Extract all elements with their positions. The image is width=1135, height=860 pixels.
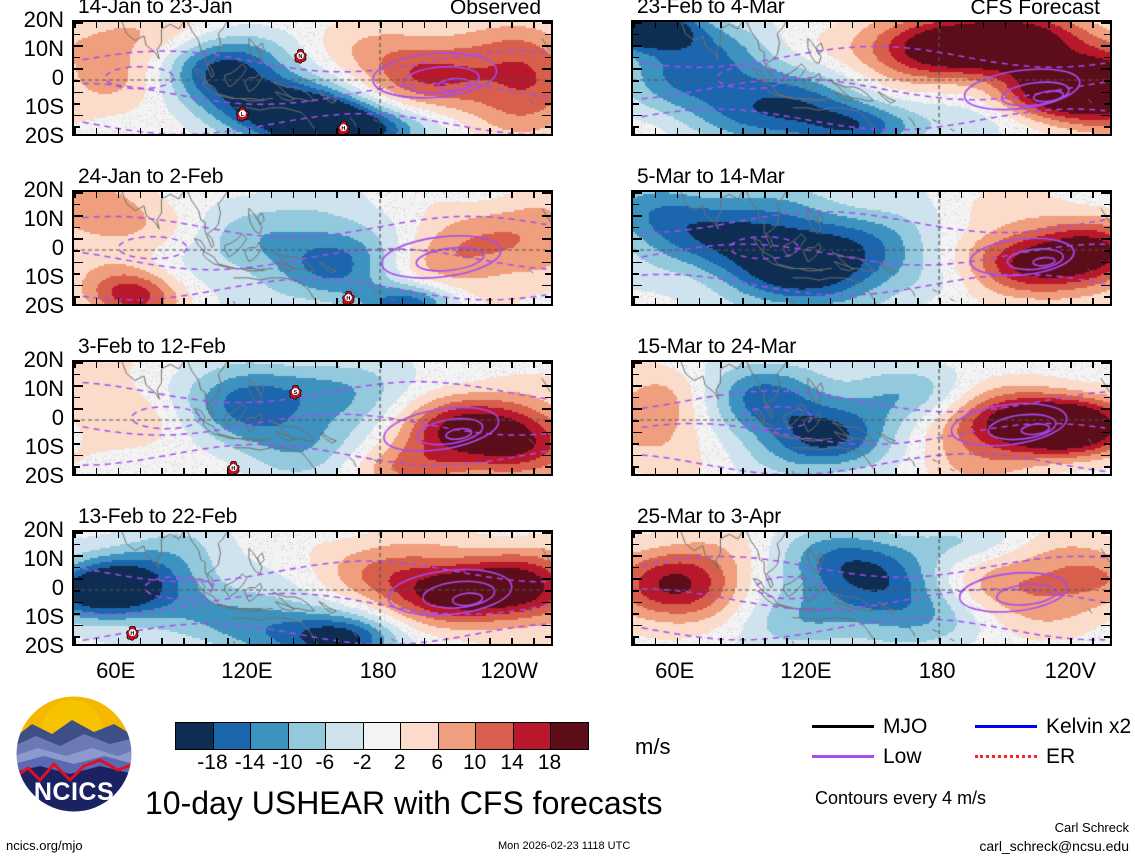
axis-tick	[1101, 22, 1110, 24]
figure-title: 10-day USHEAR with CFS forecasts	[145, 785, 663, 822]
axis-tick	[511, 532, 513, 538]
axis-tick	[895, 532, 897, 538]
axis-tick	[358, 362, 360, 368]
map-panel: NLH	[72, 20, 553, 136]
panel-title: 3-Feb to 12-Feb	[78, 335, 226, 359]
axis-tick	[742, 128, 744, 134]
axis-tick	[293, 468, 295, 474]
axis-tick	[161, 468, 163, 474]
axis-tick	[1101, 45, 1110, 47]
axis-tick	[424, 128, 426, 134]
colorbar-tick-label: 18	[538, 751, 561, 775]
axis-tick	[118, 362, 120, 368]
legend-line-swatch	[975, 725, 1037, 728]
x-axis-tick-label: 60E	[96, 658, 135, 684]
axis-tick	[1005, 638, 1007, 644]
x-axis-tick-label: 120E	[221, 658, 272, 684]
axis-tick	[742, 362, 744, 368]
axis-tick	[205, 468, 207, 474]
axis-tick	[315, 532, 317, 538]
axis-tick	[786, 298, 788, 304]
axis-tick	[720, 532, 722, 538]
axis-tick	[939, 128, 941, 134]
axis-tick	[830, 468, 832, 474]
axis-tick	[808, 22, 810, 28]
axis-tick	[633, 92, 642, 94]
axis-tick	[271, 532, 273, 538]
colorbar-swatch	[550, 723, 588, 749]
axis-tick	[542, 45, 551, 47]
axis-tick	[542, 192, 551, 194]
axis-tick	[118, 532, 120, 538]
axis-tick	[983, 362, 985, 368]
axis-tick	[545, 80, 551, 82]
axis-tick	[1048, 532, 1050, 538]
axis-tick	[1092, 638, 1094, 644]
axis-tick	[545, 34, 551, 36]
axis-tick	[140, 22, 142, 28]
axis-tick	[336, 298, 338, 304]
colorbar-tick-label: -14	[235, 751, 265, 775]
axis-tick	[961, 192, 963, 198]
axis-tick	[917, 532, 919, 538]
y-axis-tick-label: 0	[0, 405, 64, 431]
colorbar-tick-label: 14	[500, 751, 523, 775]
axis-tick	[533, 638, 535, 644]
y-axis-tick-label: 20N	[0, 517, 64, 543]
legend-label: ER	[1046, 746, 1075, 767]
axis-tick	[249, 532, 251, 538]
axis-tick	[633, 68, 642, 70]
panel-title: 14-Jan to 23-Jan	[78, 0, 232, 19]
map-panel: H	[72, 190, 553, 306]
axis-tick	[402, 192, 404, 198]
axis-tick	[874, 638, 876, 644]
map-panel: H	[72, 530, 553, 646]
axis-tick	[874, 468, 876, 474]
axis-tick	[542, 625, 551, 627]
axis-tick	[74, 385, 83, 387]
svg-text:H: H	[347, 296, 351, 302]
axis-tick	[1101, 555, 1110, 557]
axis-tick	[633, 385, 642, 387]
axis-tick	[1070, 298, 1072, 304]
axis-tick	[446, 128, 448, 134]
axis-tick	[249, 468, 251, 474]
axis-tick	[336, 362, 338, 368]
axis-tick	[74, 126, 80, 128]
axis-tick	[895, 128, 897, 134]
axis-tick	[852, 128, 854, 134]
y-axis-tick-label: 0	[0, 575, 64, 601]
axis-tick	[74, 68, 83, 70]
panel-title: 25-Mar to 3-Apr	[637, 505, 781, 529]
map-panel	[631, 190, 1112, 306]
axis-tick	[633, 103, 639, 105]
axis-tick	[1101, 92, 1110, 94]
axis-tick	[633, 238, 642, 240]
axis-tick	[402, 362, 404, 368]
y-axis-tick-label: 20N	[0, 347, 64, 373]
axis-tick	[1104, 374, 1110, 376]
axis-tick	[677, 192, 679, 198]
axis-tick	[633, 602, 642, 604]
axis-tick	[74, 432, 83, 434]
axis-tick	[1104, 80, 1110, 82]
axis-tick	[74, 590, 80, 592]
axis-tick	[655, 298, 657, 304]
column-header-forecast: CFS Forecast	[970, 0, 1100, 20]
axis-tick	[677, 468, 679, 474]
axis-tick	[1101, 578, 1110, 580]
axis-tick	[1101, 238, 1110, 240]
axis-tick	[633, 22, 642, 24]
axis-tick	[140, 532, 142, 538]
axis-tick	[895, 22, 897, 28]
colorbar-tick-label: -2	[353, 751, 372, 775]
axis-tick	[249, 362, 251, 368]
axis-tick	[96, 468, 98, 474]
axis-tick	[917, 128, 919, 134]
axis-tick	[874, 128, 876, 134]
axis-tick	[742, 298, 744, 304]
axis-tick	[424, 638, 426, 644]
axis-tick	[140, 468, 142, 474]
y-axis-tick-label: 10N	[0, 546, 64, 572]
axis-tick	[249, 22, 251, 28]
axis-tick	[358, 638, 360, 644]
axis-tick	[489, 638, 491, 644]
axis-tick	[1027, 22, 1029, 28]
y-axis-tick-label: 20S	[0, 463, 64, 489]
axis-tick	[446, 298, 448, 304]
axis-tick	[677, 128, 679, 134]
tropical-cyclone-marker: L	[236, 107, 249, 122]
axis-tick	[720, 468, 722, 474]
axis-tick	[96, 22, 98, 28]
axis-tick	[786, 22, 788, 28]
legend-line-swatch	[812, 755, 874, 758]
colorbar-swatch	[325, 723, 363, 749]
axis-tick	[1027, 468, 1029, 474]
axis-tick	[74, 22, 83, 24]
axis-tick	[939, 298, 941, 304]
axis-tick	[1104, 466, 1110, 468]
axis-tick	[402, 22, 404, 28]
axis-tick	[74, 374, 80, 376]
axis-tick	[74, 92, 83, 94]
axis-tick	[939, 192, 941, 198]
axis-tick	[542, 362, 551, 364]
axis-tick	[533, 128, 535, 134]
x-axis-tick-label: 180	[360, 658, 397, 684]
axis-tick	[742, 532, 744, 538]
axis-tick	[655, 468, 657, 474]
axis-tick	[633, 590, 639, 592]
axis-tick	[1101, 215, 1110, 217]
axis-tick	[271, 638, 273, 644]
axis-tick	[764, 128, 766, 134]
axis-tick	[1104, 590, 1110, 592]
axis-tick	[293, 192, 295, 198]
axis-tick	[742, 192, 744, 198]
x-axis-tick-label: 60E	[655, 658, 694, 684]
ncics-logo: NCICS	[14, 694, 134, 814]
axis-tick	[633, 625, 642, 627]
axis-tick	[874, 362, 876, 368]
credit-email[interactable]: carl_schreck@ncsu.edu	[899, 838, 1129, 854]
axis-tick	[786, 128, 788, 134]
axis-tick	[742, 468, 744, 474]
colorbar	[175, 722, 589, 750]
axis-tick	[533, 192, 535, 198]
axis-tick	[830, 532, 832, 538]
axis-tick	[852, 22, 854, 28]
axis-tick	[1070, 638, 1072, 644]
axis-tick	[786, 468, 788, 474]
axis-tick	[402, 532, 404, 538]
axis-tick	[545, 567, 551, 569]
axis-tick	[720, 362, 722, 368]
axis-tick	[633, 544, 639, 546]
axis-tick	[227, 532, 229, 538]
axis-tick	[1101, 192, 1110, 194]
axis-tick	[1070, 192, 1072, 198]
axis-tick	[315, 192, 317, 198]
axis-tick	[1101, 262, 1110, 264]
y-axis-tick-label: 20N	[0, 7, 64, 33]
axis-tick	[468, 22, 470, 28]
y-axis-tick-label: 20S	[0, 633, 64, 659]
axis-tick	[74, 555, 83, 557]
axis-tick	[1104, 544, 1110, 546]
axis-tick	[533, 22, 535, 28]
axis-tick	[74, 298, 76, 304]
axis-tick	[917, 192, 919, 198]
axis-tick	[545, 273, 551, 275]
axis-tick	[1048, 22, 1050, 28]
axis-tick	[183, 128, 185, 134]
axis-tick	[895, 298, 897, 304]
y-axis-tick-label: 10S	[0, 434, 64, 460]
axis-tick	[917, 298, 919, 304]
axis-tick	[183, 638, 185, 644]
axis-tick	[633, 408, 642, 410]
axis-tick	[808, 362, 810, 368]
axis-tick	[358, 192, 360, 198]
legend-label: MJO	[883, 716, 927, 737]
axis-tick	[380, 22, 382, 28]
axis-tick	[633, 204, 639, 206]
axis-tick	[983, 22, 985, 28]
axis-tick	[1070, 362, 1072, 368]
axis-tick	[446, 532, 448, 538]
axis-tick	[424, 362, 426, 368]
axis-tick	[1101, 362, 1110, 364]
axis-tick	[74, 397, 80, 399]
axis-tick	[74, 57, 80, 59]
axis-tick	[271, 22, 273, 28]
axis-tick	[424, 22, 426, 28]
panel-title: 5-Mar to 14-Mar	[637, 165, 785, 189]
axis-tick	[542, 92, 551, 94]
axis-tick	[786, 192, 788, 198]
axis-tick	[917, 22, 919, 28]
axis-tick	[633, 262, 642, 264]
axis-tick	[677, 298, 679, 304]
axis-tick	[545, 57, 551, 59]
axis-tick	[468, 298, 470, 304]
axis-tick	[1070, 532, 1072, 538]
axis-tick	[74, 578, 83, 580]
axis-tick	[545, 443, 551, 445]
axis-tick	[336, 192, 338, 198]
axis-tick	[271, 192, 273, 198]
axis-tick	[380, 192, 382, 198]
axis-tick	[808, 638, 810, 644]
axis-tick	[74, 544, 80, 546]
tropical-cyclone-marker: S	[289, 385, 302, 400]
colorbar-swatch	[176, 723, 213, 749]
axis-tick	[74, 408, 83, 410]
axis-tick	[786, 362, 788, 368]
axis-tick	[380, 468, 382, 474]
axis-tick	[808, 468, 810, 474]
axis-tick	[961, 362, 963, 368]
axis-tick	[293, 362, 295, 368]
colorbar-units-label: m/s	[635, 734, 670, 760]
svg-text:S: S	[294, 390, 298, 396]
svg-text:H: H	[342, 126, 346, 132]
tropical-cyclone-marker: H	[337, 121, 350, 136]
axis-tick	[895, 468, 897, 474]
axis-tick	[511, 362, 513, 368]
axis-tick	[183, 468, 185, 474]
tropical-cyclone-marker: H	[227, 461, 240, 476]
axis-tick	[720, 298, 722, 304]
column-header-observed: Observed	[450, 0, 541, 20]
axis-tick	[1104, 34, 1110, 36]
axis-tick	[74, 215, 83, 217]
colorbar-swatch	[475, 723, 513, 749]
axis-tick	[1005, 128, 1007, 134]
axis-tick	[271, 468, 273, 474]
y-axis-tick-label: 10S	[0, 94, 64, 120]
axis-tick	[808, 128, 810, 134]
axis-tick	[1092, 22, 1094, 28]
axis-tick	[742, 638, 744, 644]
axis-tick	[633, 296, 639, 298]
axis-tick	[402, 298, 404, 304]
x-axis-tick-label: 120W	[481, 658, 538, 684]
axis-tick	[1092, 298, 1094, 304]
axis-tick	[1027, 128, 1029, 134]
colorbar-tick-label: -10	[272, 751, 302, 775]
axis-tick	[1092, 362, 1094, 368]
axis-tick	[183, 532, 185, 538]
axis-tick	[852, 532, 854, 538]
axis-tick	[533, 468, 535, 474]
axis-tick	[74, 362, 83, 364]
axis-tick	[205, 298, 207, 304]
footer-site-link[interactable]: ncics.org/mjo	[6, 838, 83, 853]
axis-tick	[315, 362, 317, 368]
axis-tick	[545, 227, 551, 229]
axis-tick	[118, 128, 120, 134]
axis-tick	[161, 128, 163, 134]
axis-tick	[542, 385, 551, 387]
axis-tick	[74, 455, 83, 457]
axis-tick	[74, 443, 80, 445]
axis-tick	[468, 128, 470, 134]
axis-tick	[74, 273, 80, 275]
axis-tick	[315, 638, 317, 644]
axis-tick	[205, 128, 207, 134]
axis-tick	[939, 362, 941, 368]
axis-tick	[271, 298, 273, 304]
axis-tick	[699, 532, 701, 538]
axis-tick	[227, 22, 229, 28]
axis-tick	[74, 262, 83, 264]
axis-tick	[468, 638, 470, 644]
axis-tick	[1092, 532, 1094, 538]
axis-tick	[542, 602, 551, 604]
axis-tick	[96, 362, 98, 368]
axis-tick	[545, 636, 551, 638]
axis-tick	[533, 362, 535, 368]
axis-tick	[677, 362, 679, 368]
axis-tick	[511, 128, 513, 134]
axis-tick	[542, 408, 551, 410]
axis-tick	[542, 215, 551, 217]
axis-tick	[633, 298, 635, 304]
axis-tick	[939, 638, 941, 644]
axis-tick	[655, 532, 657, 538]
axis-tick	[74, 238, 83, 240]
legend-label: Low	[883, 746, 922, 767]
axis-tick	[183, 192, 185, 198]
axis-tick	[545, 126, 551, 128]
axis-tick	[895, 362, 897, 368]
axis-tick	[1104, 397, 1110, 399]
axis-tick	[74, 227, 80, 229]
axis-tick	[633, 455, 642, 457]
axis-tick	[1070, 468, 1072, 474]
axis-tick	[74, 296, 80, 298]
axis-tick	[808, 192, 810, 198]
colorbar-swatch	[438, 723, 476, 749]
colorbar-tick-label: -6	[315, 751, 334, 775]
axis-tick	[808, 532, 810, 538]
axis-tick	[917, 362, 919, 368]
axis-tick	[74, 532, 83, 534]
axis-tick	[380, 638, 382, 644]
map-panel	[631, 20, 1112, 136]
axis-tick	[1101, 68, 1110, 70]
axis-tick	[1048, 298, 1050, 304]
axis-tick	[545, 420, 551, 422]
axis-tick	[542, 238, 551, 240]
axis-tick	[917, 468, 919, 474]
axis-tick	[545, 466, 551, 468]
legend-line-swatch	[812, 725, 874, 728]
axis-tick	[720, 22, 722, 28]
axis-tick	[293, 638, 295, 644]
axis-tick	[161, 362, 163, 368]
axis-tick	[1101, 532, 1110, 534]
axis-tick	[96, 298, 98, 304]
y-axis-tick-label: 10N	[0, 206, 64, 232]
